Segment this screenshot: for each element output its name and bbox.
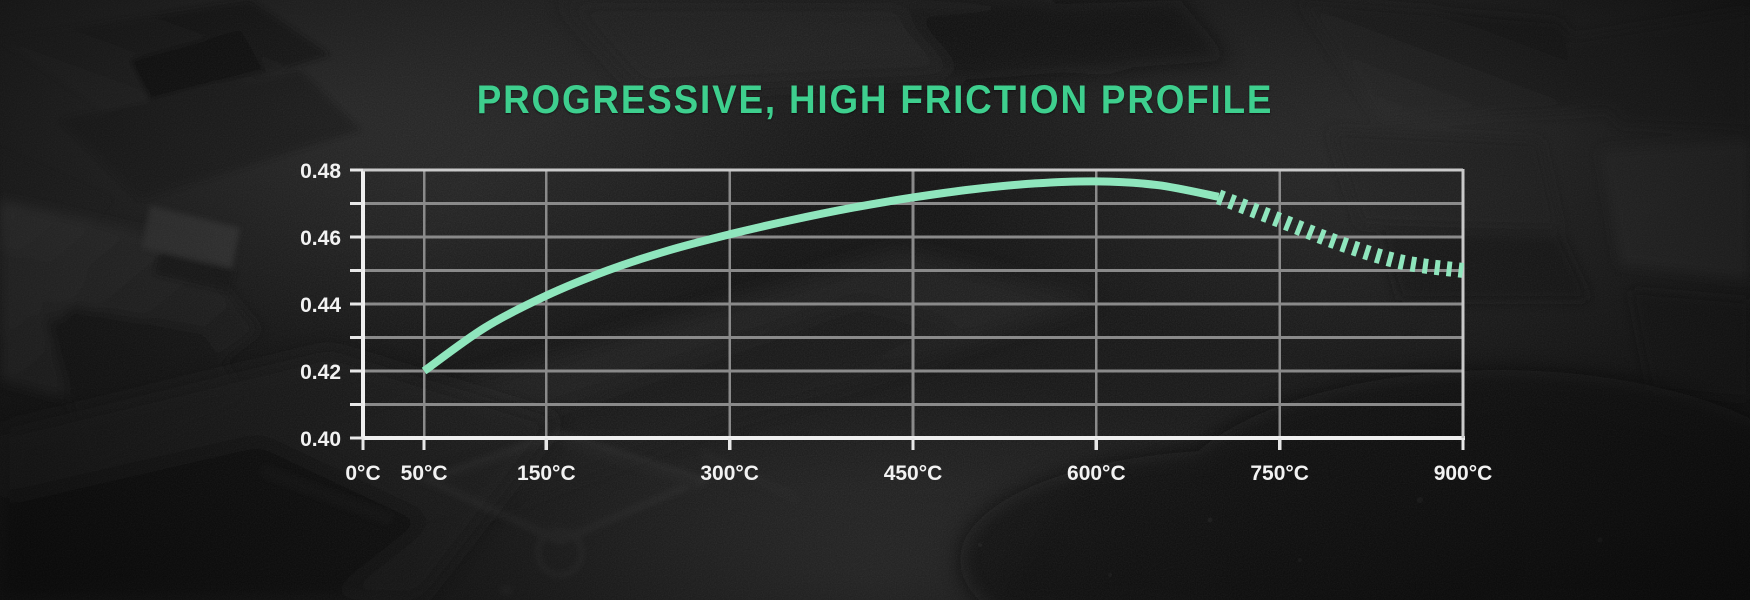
chart-series-group (424, 181, 1463, 371)
y-tick-label: 0.46 (300, 227, 341, 250)
chart-series-line-1 (1219, 197, 1463, 271)
friction-profile-chart: PROGRESSIVE, HIGH FRICTION PROFILE 0.400… (0, 0, 1750, 600)
x-tick-label: 750°C (1250, 462, 1309, 485)
x-tick-label: 600°C (1067, 462, 1126, 485)
chart-x-tick-labels: 0°C50°C150°C300°C450°C600°C750°C900°C (345, 462, 1492, 485)
y-tick-label: 0.48 (300, 160, 341, 183)
chart-plot-area: 0.400.420.440.460.48 0°C50°C150°C300°C45… (0, 0, 1750, 600)
y-tick-label: 0.40 (300, 428, 341, 451)
x-tick-label: 150°C (517, 462, 576, 485)
x-tick-label: 0°C (345, 462, 380, 485)
x-tick-label: 450°C (884, 462, 943, 485)
x-tick-label: 900°C (1434, 462, 1493, 485)
chart-series-line-0 (424, 181, 1218, 371)
x-tick-label: 300°C (700, 462, 759, 485)
x-tick-label: 50°C (401, 462, 448, 485)
chart-y-tick-labels: 0.400.420.440.460.48 (300, 160, 341, 451)
y-tick-label: 0.44 (300, 294, 341, 317)
y-tick-label: 0.42 (300, 361, 341, 384)
